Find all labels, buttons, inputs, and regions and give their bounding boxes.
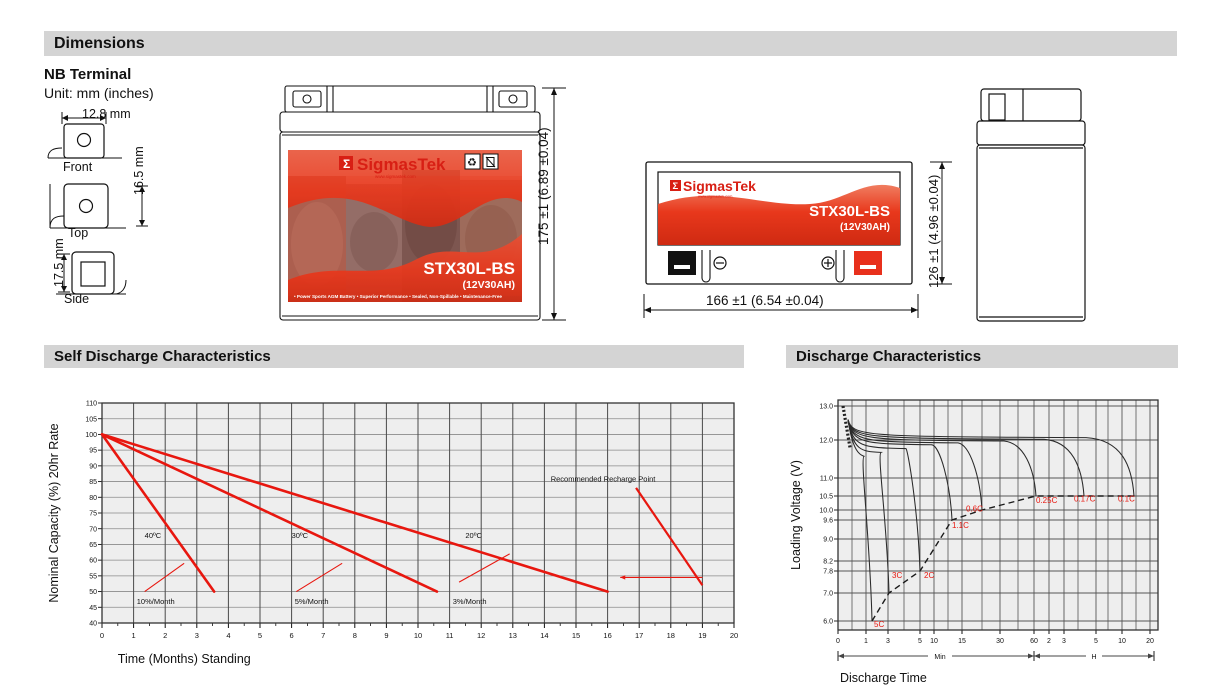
svg-text:Min: Min (934, 654, 945, 661)
svg-text:20: 20 (730, 631, 738, 640)
svg-text:3: 3 (195, 631, 199, 640)
battery-end-view (975, 86, 1095, 324)
svg-text:4: 4 (226, 631, 230, 640)
svg-text:90: 90 (89, 463, 97, 470)
svg-text:2: 2 (163, 631, 167, 640)
svg-text:3%/Month: 3%/Month (453, 597, 487, 606)
front-spec-text: (12V30AH) (462, 279, 515, 291)
svg-text:Nominal Capacity (%) 20hr Rate: Nominal Capacity (%) 20hr Rate (47, 423, 61, 602)
section-title-discharge: Discharge Characteristics (796, 348, 981, 365)
svg-text:19: 19 (698, 631, 706, 640)
svg-text:0.1C: 0.1C (1118, 495, 1135, 504)
svg-text:9.6: 9.6 (823, 518, 833, 525)
battery-front-view: Σ SigmasTek www.sigmastek.com ♻ STX30L-B… (275, 84, 545, 324)
svg-text:7.8: 7.8 (823, 569, 833, 576)
front-tagline-text: • Power Sports AGM Battery • Superior Pe… (294, 294, 502, 299)
discharge-chart: 13.012.011.010.510.09.69.08.27.87.06.001… (786, 378, 1178, 668)
svg-text:0: 0 (836, 638, 840, 645)
svg-text:11: 11 (446, 631, 454, 640)
side-brand-website: www.sigmastek.com (698, 195, 732, 199)
svg-text:1.1C: 1.1C (952, 521, 969, 530)
svg-text:16: 16 (603, 631, 611, 640)
svg-text:50: 50 (89, 589, 97, 596)
svg-text:Loading Voltage (V): Loading Voltage (V) (789, 460, 803, 570)
recycle-icon: ♻ (465, 154, 480, 169)
svg-text:70: 70 (89, 526, 97, 533)
svg-text:75: 75 (89, 511, 97, 518)
svg-text:95: 95 (89, 448, 97, 455)
svg-text:Σ: Σ (343, 157, 350, 171)
svg-text:110: 110 (86, 401, 97, 408)
svg-text:18: 18 (667, 631, 675, 640)
side-brand-name: SigmasTek (683, 178, 756, 194)
svg-text:0.6C: 0.6C (966, 504, 983, 513)
terminal-width-label: 12.8 mm (82, 107, 131, 121)
front-model-text: STX30L-BS (423, 259, 515, 278)
svg-text:20ºC: 20ºC (465, 531, 482, 540)
svg-text:30: 30 (996, 638, 1004, 645)
svg-text:10.0: 10.0 (819, 508, 833, 515)
terminal-side-label: Side (64, 292, 89, 306)
svg-text:Σ: Σ (673, 181, 679, 192)
svg-text:6: 6 (290, 631, 294, 640)
svg-text:100: 100 (85, 432, 97, 439)
front-height-label: 175 ±1 (6.89 ±0.04) (536, 127, 551, 245)
svg-text:5C: 5C (874, 620, 884, 629)
svg-text:1: 1 (864, 638, 868, 645)
svg-text:15: 15 (572, 631, 580, 640)
terminal-front-label: Front (63, 160, 92, 174)
side-length-label: 166 ±1 (6.54 ±0.04) (706, 293, 824, 308)
svg-text:5: 5 (918, 638, 922, 645)
svg-text:105: 105 (85, 416, 97, 423)
positive-terminal-block (854, 251, 882, 275)
svg-text:20: 20 (1146, 638, 1154, 645)
svg-text:3: 3 (886, 638, 890, 645)
section-header-dimensions: Dimensions (44, 31, 1177, 56)
svg-text:17: 17 (635, 631, 643, 640)
svg-text:Time (Months) Standing: Time (Months) Standing (118, 652, 251, 666)
svg-text:9.0: 9.0 (823, 537, 833, 544)
svg-text:60: 60 (1030, 638, 1038, 645)
terminal-side-height-label: 17.5 mm (52, 238, 66, 287)
svg-text:10: 10 (1118, 638, 1126, 645)
svg-text:Discharge Time: Discharge Time (840, 671, 927, 685)
section-title-self-discharge: Self Discharge Characteristics (54, 348, 271, 365)
svg-text:30ºC: 30ºC (292, 531, 309, 540)
svg-text:15: 15 (958, 638, 966, 645)
svg-text:0.17C: 0.17C (1074, 495, 1096, 504)
svg-text:12: 12 (477, 631, 485, 640)
svg-text:2C: 2C (924, 571, 934, 580)
svg-text:10.5: 10.5 (819, 494, 833, 501)
section-header-self-discharge: Self Discharge Characteristics (44, 345, 744, 368)
svg-text:10: 10 (930, 638, 938, 645)
side-model-text: STX30L-BS (809, 203, 890, 220)
svg-text:0: 0 (100, 631, 104, 640)
svg-text:♻: ♻ (467, 157, 477, 169)
brand-name: SigmasTek (357, 155, 446, 174)
svg-text:9: 9 (384, 631, 388, 640)
no-trash-icon (483, 154, 498, 169)
svg-text:45: 45 (89, 605, 97, 612)
svg-text:11.0: 11.0 (820, 476, 833, 483)
side-spec-text: (12V30AH) (840, 222, 890, 233)
svg-text:0.25C: 0.25C (1036, 496, 1058, 505)
svg-text:13: 13 (509, 631, 517, 640)
svg-text:12.0: 12.0 (819, 438, 833, 445)
svg-text:H: H (1091, 654, 1096, 661)
side-height-label: 126 ±1 (4.96 ±0.04) (926, 175, 941, 288)
svg-text:5: 5 (1094, 638, 1098, 645)
svg-text:5%/Month: 5%/Month (295, 597, 329, 606)
brand-website: www.sigmastek.com (375, 174, 416, 179)
svg-text:80: 80 (89, 495, 97, 502)
svg-text:2: 2 (1047, 638, 1051, 645)
svg-text:Recommended Recharge Point: Recommended Recharge Point (551, 475, 657, 484)
section-title-dimensions: Dimensions (54, 35, 145, 53)
svg-text:8: 8 (353, 631, 357, 640)
svg-text:6.0: 6.0 (823, 619, 833, 626)
svg-text:7.0: 7.0 (823, 591, 833, 598)
svg-text:65: 65 (89, 542, 97, 549)
svg-text:13.0: 13.0 (819, 404, 833, 411)
self-discharge-chart: 4045505560657075808590951001051100123456… (44, 385, 744, 660)
svg-text:40: 40 (89, 621, 97, 628)
svg-text:10: 10 (414, 631, 422, 640)
terminal-top-height-label: 16.5 mm (132, 146, 146, 195)
negative-terminal-block (668, 251, 696, 275)
section-header-discharge: Discharge Characteristics (786, 345, 1178, 368)
svg-text:8.2: 8.2 (823, 559, 833, 566)
svg-text:55: 55 (89, 573, 97, 580)
svg-text:1: 1 (132, 631, 136, 640)
svg-text:10%/Month: 10%/Month (137, 597, 175, 606)
svg-text:60: 60 (89, 558, 97, 565)
svg-text:40ºC: 40ºC (145, 531, 162, 540)
terminal-top-label: Top (68, 226, 88, 240)
svg-text:14: 14 (540, 631, 548, 640)
svg-text:3C: 3C (892, 571, 902, 580)
svg-text:5: 5 (258, 631, 262, 640)
svg-text:3: 3 (1062, 638, 1066, 645)
svg-text:85: 85 (89, 479, 97, 486)
svg-text:7: 7 (321, 631, 325, 640)
